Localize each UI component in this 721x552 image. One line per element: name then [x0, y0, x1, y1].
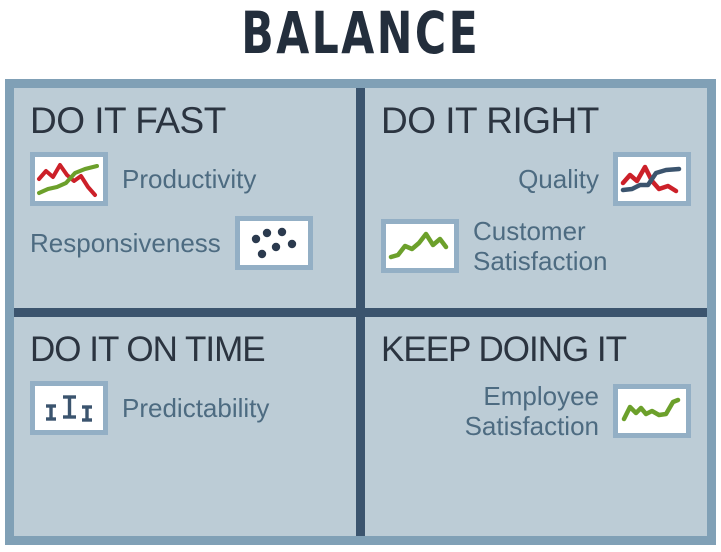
metric-employee-satisfaction: Employee Satisfaction — [381, 381, 691, 441]
divider-center-cross — [356, 308, 365, 317]
metric-responsiveness: Responsiveness — [30, 216, 340, 270]
line-chart-red-navy-icon — [613, 152, 691, 206]
metric-label-quality: Quality — [518, 164, 599, 194]
quadrant-do-it-fast: DO IT FAST Productivity Responsiveness — [14, 88, 356, 308]
quadrant-heading-do-it-right: DO IT RIGHT — [381, 100, 691, 142]
vertical-divider-top — [356, 88, 365, 308]
quadrant-grid: DO IT FAST Productivity Responsiveness — [14, 88, 707, 536]
page-title: BALANCE — [241, 5, 480, 63]
line-chart-red-green-icon — [30, 152, 108, 206]
quadrant-heading-keep-doing-it: KEEP DOING IT — [381, 329, 691, 371]
metric-label-responsiveness: Responsiveness — [30, 228, 221, 258]
metric-predictability: Predictability — [30, 381, 340, 435]
line-chart-green-flat-icon — [613, 384, 691, 438]
title-bar: BALANCE — [0, 0, 721, 68]
metric-label-customer-satisfaction: Customer Satisfaction — [473, 216, 607, 276]
metric-label-predictability: Predictability — [122, 393, 269, 423]
horizontal-divider-right — [365, 308, 707, 317]
metric-label-productivity: Productivity — [122, 164, 256, 194]
quadrant-do-it-on-time: DO IT ON TIME — [14, 317, 356, 537]
horizontal-divider-left — [14, 308, 356, 317]
error-bars-icon — [30, 381, 108, 435]
line-chart-green-icon — [381, 219, 459, 273]
vertical-divider-bottom — [356, 317, 365, 537]
quadrant-heading-do-it-on-time: DO IT ON TIME — [30, 329, 340, 371]
metric-customer-satisfaction: Customer Satisfaction — [381, 216, 691, 276]
quadrant-keep-doing-it: KEEP DOING IT Employee Satisfaction — [365, 317, 707, 537]
metric-productivity: Productivity — [30, 152, 340, 206]
metric-label-employee-satisfaction: Employee Satisfaction — [465, 381, 599, 441]
metric-quality: Quality — [381, 152, 691, 206]
scatter-plot-dots-icon — [235, 216, 313, 270]
balance-matrix-frame: DO IT FAST Productivity Responsiveness — [5, 79, 716, 545]
quadrant-do-it-right: DO IT RIGHT Quality Customer Satisfactio… — [365, 88, 707, 308]
quadrant-heading-do-it-fast: DO IT FAST — [30, 100, 340, 142]
